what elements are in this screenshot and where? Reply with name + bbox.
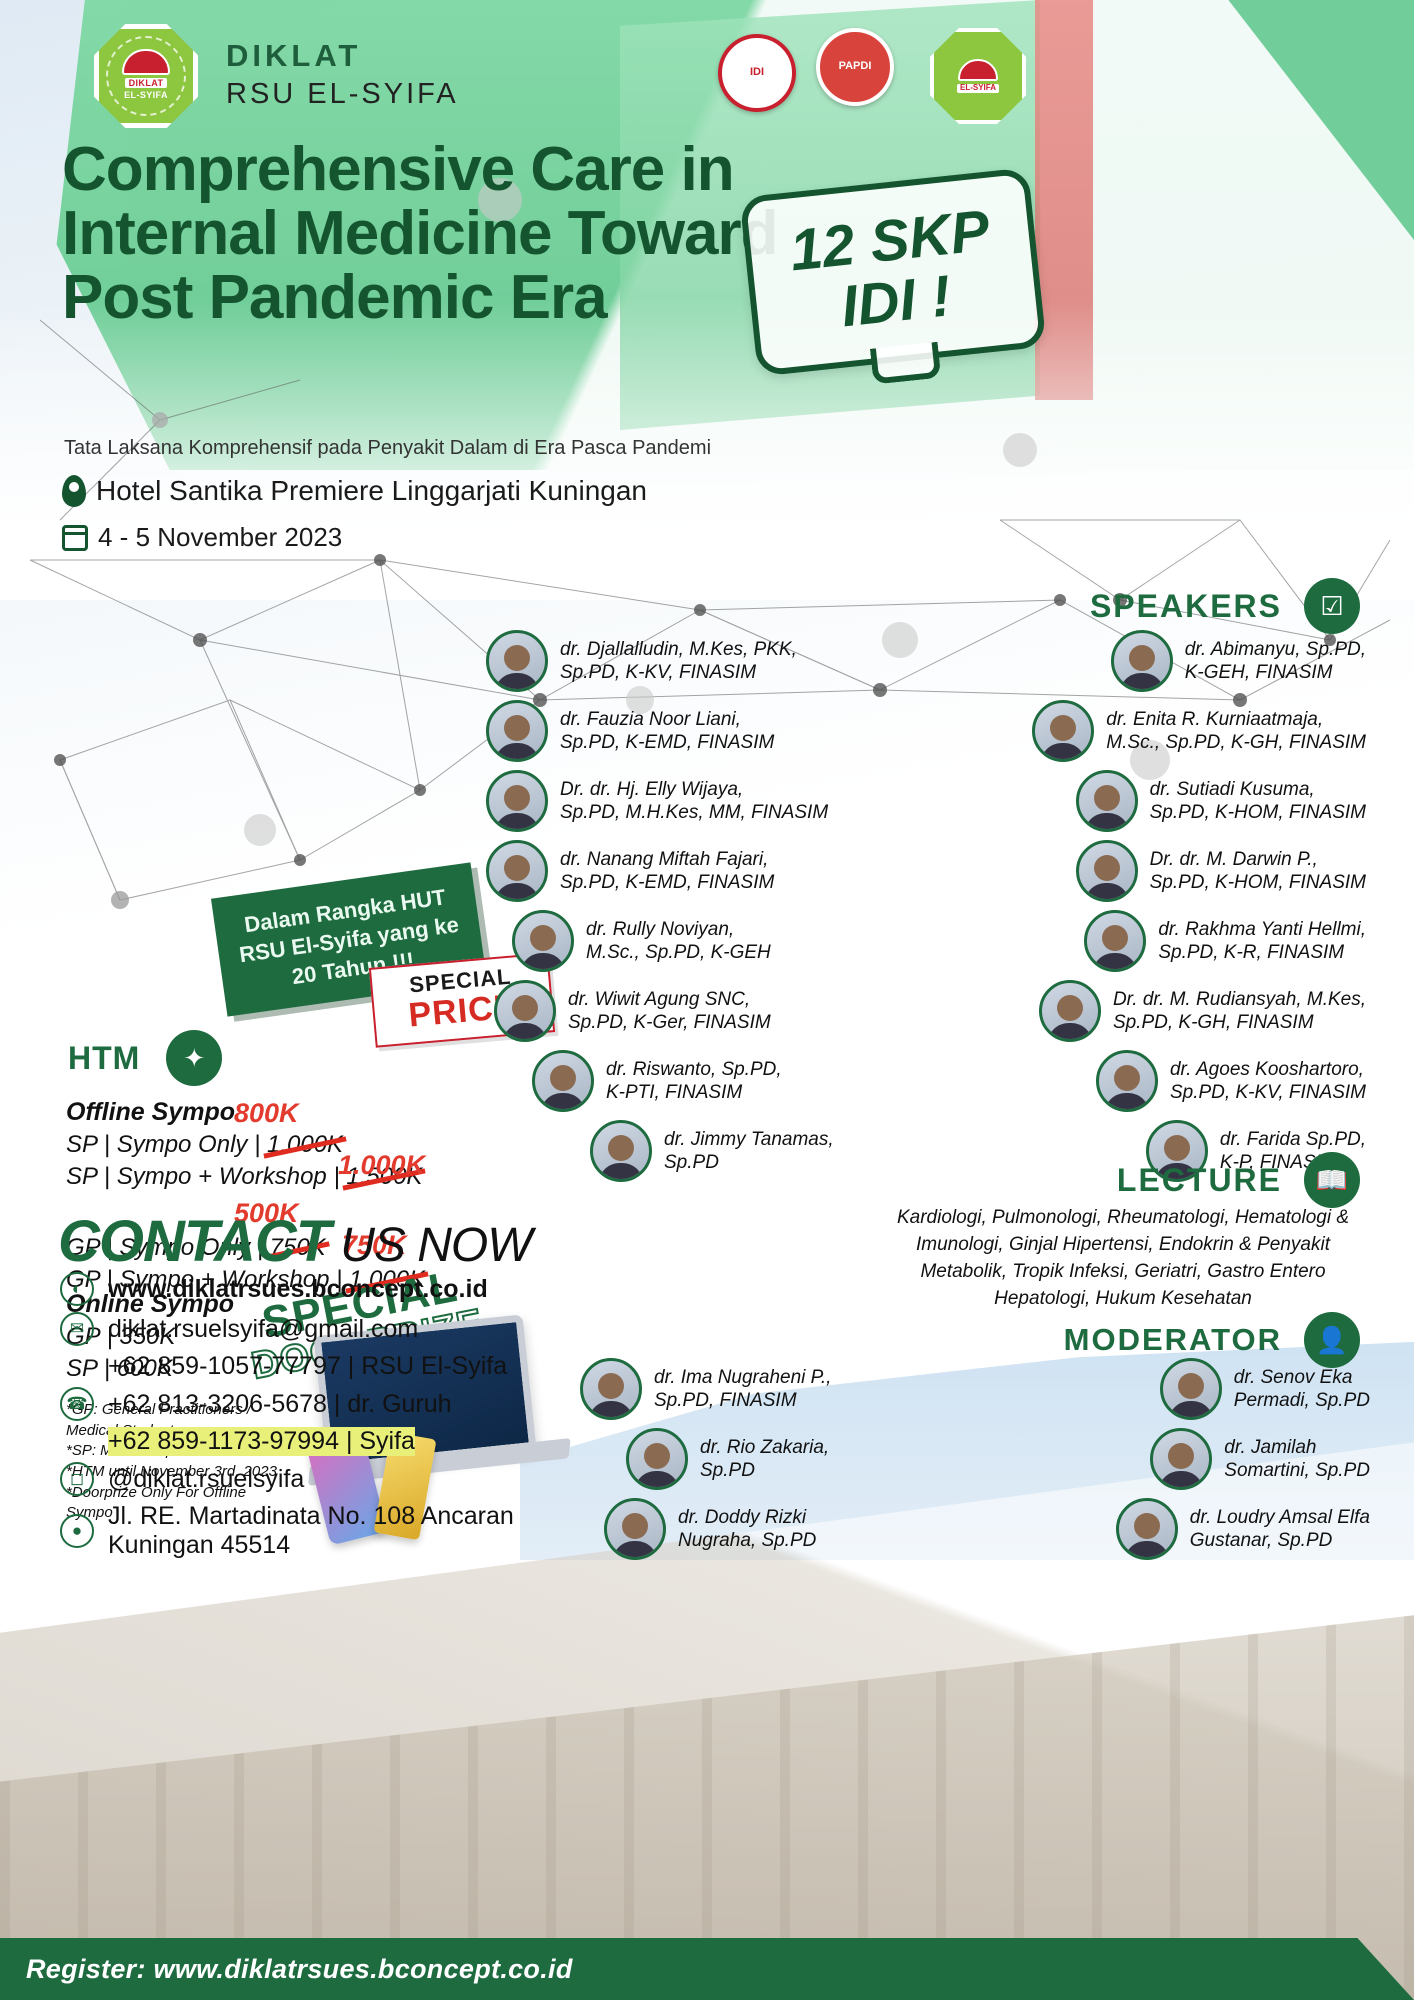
avatar <box>1150 1428 1212 1490</box>
contact-heading-light: US NOW <box>340 1219 531 1272</box>
org-name-line2: RSU EL-SYIFA <box>226 78 459 111</box>
avatar <box>1160 1358 1222 1420</box>
avatar <box>1116 1498 1178 1560</box>
moderator-name-line1: dr. Rio Zakaria, <box>700 1436 829 1459</box>
htm-heading: HTM <box>68 1040 140 1077</box>
speaker-name-line2: M.Sc., Sp.PD, K-GEH <box>586 941 771 964</box>
contact-phone3-row[interactable]: +62 859-1173-97994 | Syifa <box>108 1427 514 1456</box>
contact-phone2[interactable]: +62 813-3206-5678 | dr. Guruh <box>108 1390 452 1419</box>
speakers-list: dr. Djallalludin, M.Kes, PKK, Sp.PD, K-K… <box>486 630 1366 1190</box>
speaker-name-line1: Dr. dr. Hj. Elly Wijaya, <box>560 778 828 801</box>
logo-ring <box>106 36 186 116</box>
speaker-name-line1: dr. Fauzia Noor Liani, <box>560 708 774 731</box>
speaker-name: dr. Riswanto, Sp.PD, K-PTI, FINASIM <box>606 1058 782 1104</box>
speaker-name-line1: dr. Agoes Kooshartoro, <box>1170 1058 1366 1081</box>
speaker-row: dr. Rully Noviyan, M.Sc., Sp.PD, K-GEH d… <box>486 910 1366 972</box>
ticket-icon: ✦ <box>166 1030 222 1086</box>
price-label: SP | Sympo + Workshop | <box>66 1163 346 1190</box>
speaker-item: dr. Jimmy Tanamas, Sp.PD <box>590 1120 834 1182</box>
speaker-item: dr. Abimanyu, Sp.PD, K-GEH, FINASIM <box>1111 630 1366 692</box>
moderator-item: dr. Jamilah Somartini, Sp.PD <box>1150 1428 1370 1490</box>
speaker-name: dr. Agoes Kooshartoro, Sp.PD, K-KV, FINA… <box>1170 1058 1366 1104</box>
contact-website-row[interactable]: ◐ www.diklatrsues.bconcept.co.id <box>60 1272 514 1306</box>
avatar <box>580 1358 642 1420</box>
whatsapp-icon: ☎ <box>60 1387 94 1421</box>
moderator-name-line1: dr. Ima Nugraheni P., <box>654 1366 831 1389</box>
speaker-name-line2: Sp.PD, K-Ger, FINASIM <box>568 1011 771 1034</box>
book-icon: 📖 <box>1304 1152 1360 1208</box>
speaker-name-line1: dr. Nanang Miftah Fajari, <box>560 848 774 871</box>
speaker-name: dr. Sutiadi Kusuma, Sp.PD, K-HOM, FINASI… <box>1150 778 1366 824</box>
moderator-item: dr. Ima Nugraheni P., Sp.PD, FINASIM <box>580 1358 831 1420</box>
speaker-name-line1: Dr. dr. M. Darwin P., <box>1150 848 1366 871</box>
speaker-name-line2: Sp.PD, K-KV, FINASIM <box>560 661 797 684</box>
speaker-row: Dr. dr. Hj. Elly Wijaya, Sp.PD, M.H.Kes,… <box>486 770 1366 832</box>
avatar <box>1032 700 1094 762</box>
rsu-badge-label: EL-SYIFA <box>957 84 999 92</box>
moderator-name-line2: Sp.PD, FINASIM <box>654 1389 831 1412</box>
speaker-row: dr. Djallalludin, M.Kes, PKK, Sp.PD, K-K… <box>486 630 1366 692</box>
moderator-name-line2: Sp.PD <box>700 1459 829 1482</box>
location-pin-icon <box>62 475 86 507</box>
speaker-item: Dr. dr. M. Darwin P., Sp.PD, K-HOM, FINA… <box>1076 840 1366 902</box>
rsu-elsyifa-logo: DIKLAT EL-SYIFA <box>94 24 198 128</box>
speaker-name: dr. Abimanyu, Sp.PD, K-GEH, FINASIM <box>1185 638 1366 684</box>
contact-instagram[interactable]: @diklat.rsuelsyifa <box>108 1465 304 1494</box>
speaker-item: dr. Djallalludin, M.Kes, PKK, Sp.PD, K-K… <box>486 630 797 692</box>
speaker-name-line2: K-GEH, FINASIM <box>1185 661 1366 684</box>
price-row: SP | Sympo Only | 1.000K <box>66 1129 496 1161</box>
moderator-row: dr. Doddy Rizki Nugraha, Sp.PD dr. Loudr… <box>580 1498 1370 1560</box>
avatar <box>494 980 556 1042</box>
instagram-icon: ◻ <box>60 1462 94 1496</box>
page-subtitle: Tata Laksana Komprehensif pada Penyakit … <box>64 437 711 460</box>
speaker-name-line2: Sp.PD, K-KV, FINASIM <box>1170 1081 1366 1104</box>
moderator-row: dr. Rio Zakaria, Sp.PD dr. Jamilah Somar… <box>580 1428 1370 1490</box>
speaker-item: dr. Rully Noviyan, M.Sc., Sp.PD, K-GEH <box>512 910 771 972</box>
contact-phone1[interactable]: +62 859-1057-77797 | RSU El-Syifa <box>108 1352 507 1381</box>
price-new: 800K <box>234 1098 299 1129</box>
speaker-name-line2: Sp.PD, M.H.Kes, MM, FINASIM <box>560 801 828 824</box>
venue-row: Hotel Santika Premiere Linggarjati Kunin… <box>62 475 647 507</box>
contact-phone3[interactable]: +62 859-1173-97994 | Syifa <box>108 1427 415 1456</box>
moderator-name-line2: Gustanar, Sp.PD <box>1190 1529 1370 1552</box>
speaker-item: dr. Sutiadi Kusuma, Sp.PD, K-HOM, FINASI… <box>1076 770 1366 832</box>
speaker-name-line1: Dr. dr. M. Rudiansyah, M.Kes, <box>1113 988 1366 1011</box>
avatar <box>1084 910 1146 972</box>
htm-heading-row: HTM ✦ <box>68 1030 222 1086</box>
skp-badge: 12 SKP IDI ! <box>739 167 1046 376</box>
speaker-name: dr. Rully Noviyan, M.Sc., Sp.PD, K-GEH <box>586 918 771 964</box>
page-title: Comprehensive Care in Internal Medicine … <box>62 138 782 330</box>
contact-email-row[interactable]: ✉ diklat.rsuelsyifa@gmail.com <box>60 1312 514 1346</box>
speaker-name: dr. Djallalludin, M.Kes, PKK, Sp.PD, K-K… <box>560 638 797 684</box>
contact-website[interactable]: www.diklatrsues.bconcept.co.id <box>108 1275 488 1304</box>
contact-address-row: ● Jl. RE. Martadinata No. 108 Ancaran Ku… <box>60 1502 514 1560</box>
speaker-name-line2: M.Sc., Sp.PD, K-GH, FINASIM <box>1106 731 1366 754</box>
avatar <box>486 700 548 762</box>
moderator-name-line1: dr. Loudry Amsal Elfa <box>1190 1506 1370 1529</box>
contact-address: Jl. RE. Martadinata No. 108 Ancaran Kuni… <box>108 1502 514 1560</box>
speaker-name-line1: dr. Rully Noviyan, <box>586 918 771 941</box>
speaker-name-line2: Sp.PD, K-HOM, FINASIM <box>1150 801 1366 824</box>
moderator-name-line2: Nugraha, Sp.PD <box>678 1529 816 1552</box>
footer-register-text[interactable]: Register: www.diklatrsues.bconcept.co.id <box>26 1954 573 1985</box>
avatar <box>486 630 548 692</box>
price-new: 1.000K <box>338 1150 425 1181</box>
speaker-item: dr. Agoes Kooshartoro, Sp.PD, K-KV, FINA… <box>1096 1050 1366 1112</box>
location-pin-icon: ● <box>60 1514 94 1548</box>
moderator-name-line1: dr. Senov Eka <box>1234 1366 1370 1389</box>
skp-badge-label: 12 SKP IDI ! <box>748 197 1037 347</box>
globe-icon: ◐ <box>60 1272 94 1306</box>
speaker-name-line1: dr. Farida Sp.PD, <box>1220 1128 1366 1151</box>
speaker-name-line1: dr. Rakhma Yanti Hellmi, <box>1158 918 1366 941</box>
envelope-icon: ✉ <box>60 1312 94 1346</box>
speaker-name-line1: dr. Riswanto, Sp.PD, <box>606 1058 782 1081</box>
contact-address-line2: Kuningan 45514 <box>108 1531 514 1560</box>
speaker-name: Dr. dr. Hj. Elly Wijaya, Sp.PD, M.H.Kes,… <box>560 778 828 824</box>
avatar <box>1039 980 1101 1042</box>
speaker-item: dr. Rakhma Yanti Hellmi, Sp.PD, K-R, FIN… <box>1084 910 1366 972</box>
papdi-logo: PAPDI <box>816 28 894 106</box>
moderator-item: dr. Senov Eka Permadi, Sp.PD <box>1160 1358 1370 1420</box>
lecture-heading: LECTURE <box>1117 1162 1282 1199</box>
moderator-name: dr. Jamilah Somartini, Sp.PD <box>1224 1436 1370 1482</box>
speaker-row: dr. Riswanto, Sp.PD, K-PTI, FINASIM dr. … <box>486 1050 1366 1112</box>
speakers-heading: SPEAKERS <box>1090 588 1282 625</box>
price-old: 1.000K <box>267 1131 343 1158</box>
moderator-name: dr. Rio Zakaria, Sp.PD <box>700 1436 829 1482</box>
rsu-elsyifa-logo-secondary: EL-SYIFA <box>930 28 1026 124</box>
idi-logo: IDI <box>718 34 796 112</box>
org-name-line1: DIKLAT <box>226 38 361 74</box>
date-row: 4 - 5 November 2023 <box>62 522 342 553</box>
speaker-name-line2: Sp.PD, K-EMD, FINASIM <box>560 731 774 754</box>
lecture-heading-row: LECTURE 📖 <box>1117 1152 1360 1208</box>
speaker-name-line1: dr. Enita R. Kurniaatmaja, <box>1106 708 1366 731</box>
speaker-name-line1: dr. Jimmy Tanamas, <box>664 1128 834 1151</box>
speaker-name-line1: dr. Wiwit Agung SNC, <box>568 988 771 1011</box>
moderator-name-line2: Somartini, Sp.PD <box>1224 1459 1370 1482</box>
avatar <box>604 1498 666 1560</box>
speaker-item: dr. Wiwit Agung SNC, Sp.PD, K-Ger, FINAS… <box>494 980 771 1042</box>
avatar <box>590 1120 652 1182</box>
speaker-badge-icon: ☑ <box>1304 578 1360 634</box>
contact-heading-row: CONTACTUS NOW <box>58 1208 532 1275</box>
moderator-name-line1: dr. Doddy Rizki <box>678 1506 816 1529</box>
avatar <box>1076 840 1138 902</box>
speaker-row: dr. Nanang Miftah Fajari, Sp.PD, K-EMD, … <box>486 840 1366 902</box>
speaker-name-line1: dr. Djallalludin, M.Kes, PKK, <box>560 638 797 661</box>
moderator-row: dr. Ima Nugraheni P., Sp.PD, FINASIM dr.… <box>580 1358 1370 1420</box>
speaker-item: dr. Enita R. Kurniaatmaja, M.Sc., Sp.PD,… <box>1032 700 1366 762</box>
speaker-row: dr. Wiwit Agung SNC, Sp.PD, K-Ger, FINAS… <box>486 980 1366 1042</box>
moderator-name: dr. Loudry Amsal Elfa Gustanar, Sp.PD <box>1190 1506 1370 1552</box>
speaker-name: dr. Fauzia Noor Liani, Sp.PD, K-EMD, FIN… <box>560 708 774 754</box>
venue-text: Hotel Santika Premiere Linggarjati Kunin… <box>96 475 647 507</box>
speaker-name-line2: Sp.PD, K-EMD, FINASIM <box>560 871 774 894</box>
speakers-heading-row: SPEAKERS ☑ <box>1090 578 1360 634</box>
contact-instagram-row[interactable]: ◻ @diklat.rsuelsyifa <box>60 1462 514 1496</box>
avatar <box>486 770 548 832</box>
speaker-name: dr. Nanang Miftah Fajari, Sp.PD, K-EMD, … <box>560 848 774 894</box>
speaker-item: dr. Fauzia Noor Liani, Sp.PD, K-EMD, FIN… <box>486 700 774 762</box>
avatar <box>532 1050 594 1112</box>
footer-register-bar[interactable]: Register: www.diklatrsues.bconcept.co.id <box>0 1938 1414 2000</box>
idi-label: IDI <box>750 67 764 79</box>
contact-address-line1: Jl. RE. Martadinata No. 108 Ancaran <box>108 1502 514 1531</box>
papdi-label: PAPDI <box>839 61 872 73</box>
speaker-name-line2: Sp.PD <box>664 1151 834 1174</box>
speaker-name: Dr. dr. M. Rudiansyah, M.Kes, Sp.PD, K-G… <box>1113 988 1366 1034</box>
speaker-item: Dr. dr. M. Rudiansyah, M.Kes, Sp.PD, K-G… <box>1039 980 1366 1042</box>
speaker-name-line2: Sp.PD, K-GH, FINASIM <box>1113 1011 1366 1034</box>
moderator-list: dr. Ima Nugraheni P., Sp.PD, FINASIM dr.… <box>580 1358 1370 1568</box>
contact-phone2-row[interactable]: ☎ +62 813-3206-5678 | dr. Guruh <box>60 1387 514 1421</box>
moderator-name: dr. Doddy Rizki Nugraha, Sp.PD <box>678 1506 816 1552</box>
speaker-name-line2: Sp.PD, K-HOM, FINASIM <box>1150 871 1366 894</box>
speaker-item: dr. Nanang Miftah Fajari, Sp.PD, K-EMD, … <box>486 840 774 902</box>
poster-header: DIKLAT EL-SYIFA DIKLAT RSU EL-SYIFA IDI … <box>0 0 1414 150</box>
moderator-item: dr. Doddy Rizki Nugraha, Sp.PD <box>604 1498 816 1560</box>
contact-heading-bold: CONTACT <box>58 1209 330 1274</box>
moderator-name-line2: Permadi, Sp.PD <box>1234 1389 1370 1412</box>
speaker-name-line2: K-PTI, FINASIM <box>606 1081 782 1104</box>
moderator-name-line1: dr. Jamilah <box>1224 1436 1370 1459</box>
date-text: 4 - 5 November 2023 <box>98 522 342 553</box>
speaker-row: dr. Fauzia Noor Liani, Sp.PD, K-EMD, FIN… <box>486 700 1366 762</box>
lecture-topics: Kardiologi, Pulmonologi, Rheumatologi, H… <box>888 1205 1358 1313</box>
avatar <box>1076 770 1138 832</box>
avatar <box>626 1428 688 1490</box>
speaker-name: dr. Wiwit Agung SNC, Sp.PD, K-Ger, FINAS… <box>568 988 771 1034</box>
speaker-item: dr. Riswanto, Sp.PD, K-PTI, FINASIM <box>532 1050 782 1112</box>
contact-phone1-row[interactable]: +62 859-1057-77797 | RSU El-Syifa <box>108 1352 514 1381</box>
avatar <box>512 910 574 972</box>
speaker-name-line1: dr. Sutiadi Kusuma, <box>1150 778 1366 801</box>
logo-book-icon-secondary <box>958 59 998 81</box>
moderator-name: dr. Senov Eka Permadi, Sp.PD <box>1234 1366 1370 1412</box>
speaker-name-line2: Sp.PD, K-R, FINASIM <box>1158 941 1366 964</box>
speaker-name: dr. Enita R. Kurniaatmaja, M.Sc., Sp.PD,… <box>1106 708 1366 754</box>
avatar <box>486 840 548 902</box>
speaker-item: Dr. dr. Hj. Elly Wijaya, Sp.PD, M.H.Kes,… <box>486 770 828 832</box>
speaker-name-line1: dr. Abimanyu, Sp.PD, <box>1185 638 1366 661</box>
contact-email[interactable]: diklat.rsuelsyifa@gmail.com <box>108 1315 418 1344</box>
speaker-name: dr. Rakhma Yanti Hellmi, Sp.PD, K-R, FIN… <box>1158 918 1366 964</box>
moderator-item: dr. Rio Zakaria, Sp.PD <box>626 1428 829 1490</box>
contact-list: ◐ www.diklatrsues.bconcept.co.id ✉ dikla… <box>60 1272 514 1566</box>
price-row: SP | Sympo + Workshop | 1.500K <box>66 1161 496 1193</box>
speaker-name: Dr. dr. M. Darwin P., Sp.PD, K-HOM, FINA… <box>1150 848 1366 894</box>
moderator-heading: MODERATOR <box>1064 1322 1282 1358</box>
avatar <box>1096 1050 1158 1112</box>
calendar-icon <box>62 525 88 551</box>
speaker-name: dr. Jimmy Tanamas, Sp.PD <box>664 1128 834 1174</box>
price-label: SP | Sympo Only | <box>66 1131 267 1158</box>
avatar <box>1111 630 1173 692</box>
moderator-name: dr. Ima Nugraheni P., Sp.PD, FINASIM <box>654 1366 831 1412</box>
moderator-item: dr. Loudry Amsal Elfa Gustanar, Sp.PD <box>1116 1498 1370 1560</box>
